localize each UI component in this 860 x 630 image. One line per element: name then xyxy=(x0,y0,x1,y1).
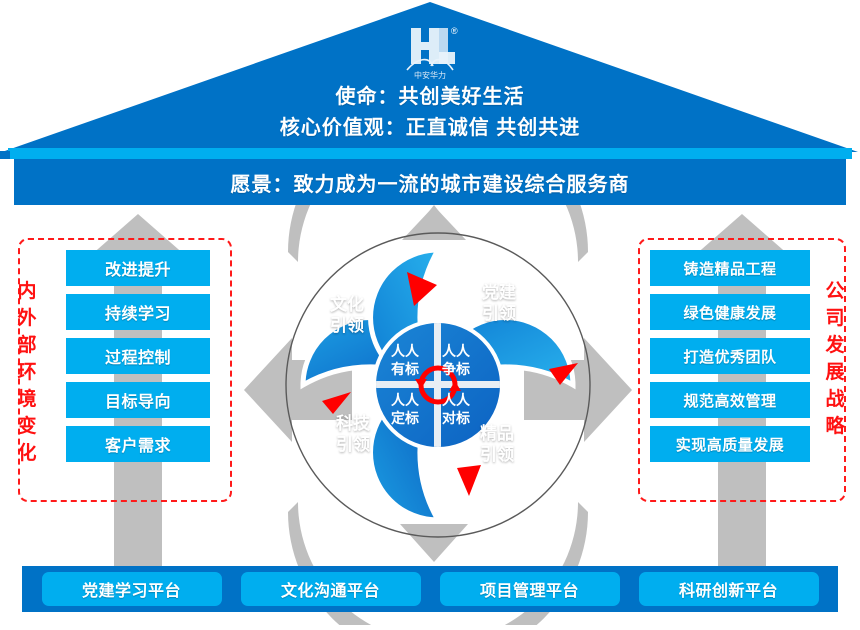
left-item-0[interactable]: 改进提升 xyxy=(66,250,210,286)
company-logo: ® 中安华力 xyxy=(399,22,461,82)
logo-registered-symbol: ® xyxy=(451,26,458,36)
platform-button-2[interactable]: 项目管理平台 xyxy=(440,572,620,606)
core-values-statement: 核心价值观：正直诚信 共创共进 xyxy=(0,112,860,144)
left-panel-title: 内外部环境变化 xyxy=(14,278,40,467)
right-item-0[interactable]: 铸造精品工程 xyxy=(650,250,810,286)
platform-bar: 党建学习平台 文化沟通平台 项目管理平台 科研创新平台 xyxy=(22,566,838,612)
left-item-3[interactable]: 目标导向 xyxy=(66,382,210,418)
right-item-4[interactable]: 实现高质量发展 xyxy=(650,426,810,462)
left-item-2[interactable]: 过程控制 xyxy=(66,338,210,374)
ui-layer: ® 中安华力 使命：共创美好生活 核心价值观：正直诚信 共创共进 愿景：致力成为… xyxy=(0,0,860,625)
right-item-1[interactable]: 绿色健康发展 xyxy=(650,294,810,330)
right-panel-title: 公司发展战略 xyxy=(822,278,848,440)
platform-button-1[interactable]: 文化沟通平台 xyxy=(241,572,421,606)
right-item-2[interactable]: 打造优秀团队 xyxy=(650,338,810,374)
right-panel-items: 铸造精品工程 绿色健康发展 打造优秀团队 规范高效管理 实现高质量发展 xyxy=(650,250,810,462)
platform-button-0[interactable]: 党建学习平台 xyxy=(42,572,222,606)
roof-eave-strip xyxy=(8,148,852,159)
logo-wordmark: 中安华力 xyxy=(414,70,446,80)
logo-building-mark xyxy=(411,28,455,64)
vision-banner: 愿景：致力成为一流的城市建设综合服务商 xyxy=(14,159,846,205)
left-panel-items: 改进提升 持续学习 过程控制 目标导向 客户需求 xyxy=(66,250,210,462)
mission-block: 使命：共创美好生活 核心价值观：正直诚信 共创共进 xyxy=(0,82,860,144)
mission-statement: 使命：共创美好生活 xyxy=(0,82,860,112)
left-item-4[interactable]: 客户需求 xyxy=(66,426,210,462)
platform-button-3[interactable]: 科研创新平台 xyxy=(639,572,819,606)
right-item-3[interactable]: 规范高效管理 xyxy=(650,382,810,418)
left-item-1[interactable]: 持续学习 xyxy=(66,294,210,330)
roof-eave-cap xyxy=(0,151,10,159)
vision-label: 愿景：致力成为一流的城市建设综合服务商 xyxy=(231,168,630,197)
infographic-root: 文化 引领 党建 引领 科技 引领 精品 引领 人人 有标 人人 争标 人人 定… xyxy=(0,0,860,625)
